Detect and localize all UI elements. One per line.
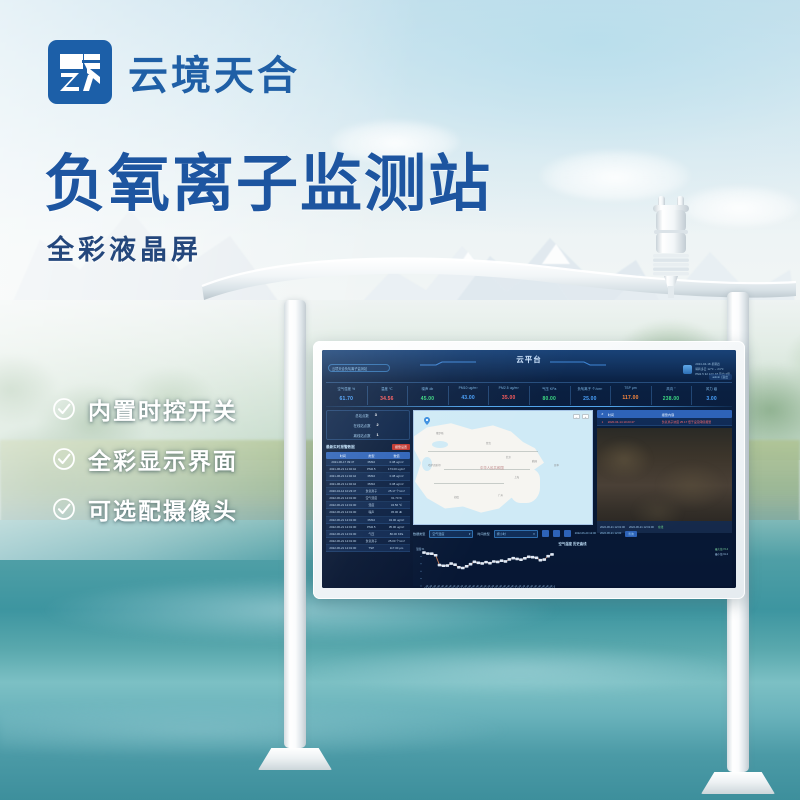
cell-type: 噪声 <box>360 510 384 514</box>
chart-point <box>488 562 492 565</box>
metrics-underline <box>326 406 732 407</box>
metric-value: 117.00 <box>610 395 651 401</box>
chart-point <box>438 564 442 567</box>
data-type-value: 空气湿度 <box>432 532 444 536</box>
chart-point <box>442 564 446 567</box>
column-header-type: 类型 <box>360 453 384 458</box>
chart-point <box>461 567 465 570</box>
page-title: 负氧离子监测站 <box>44 152 492 219</box>
column-header-value: 数值 <box>383 453 410 458</box>
metric-value: 238.00 <box>651 396 692 402</box>
weather-cloud-icon <box>683 365 692 374</box>
metric-value: 80.00 <box>529 396 570 402</box>
site-selector-value: 云境天合负氧离子监测站 <box>332 367 367 371</box>
cell-type: PM10 <box>360 474 384 478</box>
stat-label: 离线站点数 <box>354 433 371 438</box>
chart-plot: 12:0013:0014:0015:0016:0017:0018:0019:00… <box>415 547 555 588</box>
chart-point <box>535 556 539 559</box>
metric-card: TSP μm117.00 <box>610 383 651 408</box>
feature-list: 内置时控开关 全彩显示界面 可选配摄像头 <box>52 392 238 526</box>
column-header-content: 报警内容 <box>662 412 732 417</box>
chart-point <box>523 557 527 560</box>
chart-point <box>426 552 430 555</box>
cell-time: 2022-06-21 12:01:00 <box>326 496 360 500</box>
check-circle-icon <box>52 497 76 521</box>
cell-type: PM10 <box>360 482 384 486</box>
metric-label: 风向 ° <box>651 386 692 391</box>
chart-point <box>473 560 477 563</box>
station-map[interactable]: 中华人民共和国 蒙古 俄罗斯 哈萨克斯坦 日本 韩国 印度 北京 上海 广州 <box>413 410 593 525</box>
cell-type: PM2.5 <box>360 525 384 529</box>
chart-title: 空气湿度 历史曲线 <box>413 541 732 546</box>
check-circle-icon <box>52 397 76 421</box>
feature-item: 全彩显示界面 <box>52 442 238 476</box>
metric-label: TSP μm <box>610 386 651 390</box>
cell-type: 温度 <box>360 503 384 507</box>
stat-label: 在线站点数 <box>354 423 371 428</box>
brand-lockup: 云境天合 <box>48 40 300 104</box>
weather-condition: 晴转多云 12℃ ~ 24℃ <box>695 367 730 371</box>
chart-point <box>511 557 515 560</box>
chart-point <box>434 554 438 557</box>
time-type-label: 时间类型 <box>477 531 489 536</box>
cell-value: 0.38 ug/m³ <box>383 474 410 478</box>
date-to[interactable]: 2022-06-21 12:00 <box>600 532 621 535</box>
metric-label: PM2.5 ug/m³ <box>488 386 529 390</box>
table-row[interactable]: 2022-06-21 12:01:00空气湿度61.70 % <box>326 495 410 502</box>
chart-legend: 最大值 72.4 最小值 31.2 <box>715 547 728 556</box>
brand-name: 云境天合 <box>128 43 300 101</box>
cell-time: 2022-06-21 12:01:00 <box>326 518 360 522</box>
column-header-time: 时间 <box>326 453 360 458</box>
cell-type: 空气湿度 <box>360 496 384 500</box>
page-subtitle: 全彩液晶屏 <box>47 228 202 267</box>
metric-value: 45.00 <box>407 396 448 402</box>
metric-label: 噪声 db <box>407 386 448 391</box>
column-header-time: 时间 <box>608 412 662 417</box>
cell-time: 2022-06-21 12:01:00 <box>326 532 360 536</box>
cell-type: TSP <box>360 546 384 550</box>
cell-value: 43.00 ug/m³ <box>383 518 410 522</box>
metric-card: PM2.5 ug/m³35.00 <box>488 383 529 408</box>
map-region-label: 北京 <box>506 455 511 459</box>
chart-filter-bar: 数据类型 空气湿度 ▾ 时间类型 按小时 ▾ 2022-06-20 12:00 … <box>413 528 732 539</box>
map-region-label: 韩国 <box>532 459 537 463</box>
alarm-settings-button[interactable]: 报警设置 <box>392 444 410 450</box>
metric-card: 风向 °238.00 <box>651 383 692 408</box>
map-lake <box>432 441 448 448</box>
map-region-label: 俄罗斯 <box>436 431 444 435</box>
metric-card: 噪声 db45.00 <box>407 383 448 408</box>
table-row[interactable]: 2022-06-21 12:01:00噪声45.00 db <box>326 509 410 516</box>
export-icon[interactable] <box>542 530 549 537</box>
table-row[interactable]: 2022-06-21 12:01:00TSP117.00 μm <box>326 545 410 552</box>
metric-label: 气压 KPa <box>529 386 570 391</box>
legend-max: 最大值 72.4 <box>715 547 728 551</box>
chart-point <box>546 555 550 558</box>
stat-row: 总站点数3 <box>335 413 401 418</box>
chart-point <box>500 559 504 562</box>
table-row[interactable]: 2022-06-21 12:01:00PM2.535.00 ug/m³ <box>326 524 410 531</box>
map-region-label: 印度 <box>454 495 459 499</box>
cell-time: 2022-06-21 12:01:00 <box>326 503 360 507</box>
cell-time: 2022-06-21 12:01:00 <box>326 525 360 529</box>
alert-time: 2020-04-14 10:23:47 <box>608 420 662 424</box>
chart-point <box>508 558 512 561</box>
metric-label: PM10 ug/m³ <box>448 386 489 390</box>
data-type-select[interactable]: 空气湿度 ▾ <box>429 530 473 538</box>
feature-item: 内置时控开关 <box>52 392 238 426</box>
alarm-table-header: 时间 类型 数值 <box>326 452 410 459</box>
stat-value: 1 <box>376 433 382 437</box>
feature-item: 可选配摄像头 <box>52 492 238 526</box>
user-menu[interactable]: admin | 退出 <box>709 374 733 380</box>
chart-point <box>542 558 546 561</box>
cell-type: 气压 <box>360 532 384 536</box>
weather-date: 2024-04-18 星期四 <box>695 362 730 366</box>
chart-point <box>430 552 434 555</box>
chart-point <box>484 561 488 564</box>
metric-label: 温度 ℃ <box>367 386 408 391</box>
alert-content: 负氧离子浓度 25.17 低于设定阈值报警 <box>662 420 732 424</box>
alarm-table-body: 2021-06-17 09:47PM100.38 ug/m³2021-06-21… <box>326 459 410 552</box>
camera-feed[interactable]: 2022-06-21 12:01:00 2022-06-21 12:01:00 … <box>597 428 732 533</box>
cell-type: 负氧离子 <box>360 489 384 493</box>
chart-point <box>531 556 535 559</box>
cell-value: 35.00 ug/m³ <box>383 525 410 529</box>
metric-value: 25.00 <box>570 396 611 402</box>
map-region-label: 上海 <box>514 475 519 479</box>
chart-point <box>449 562 453 565</box>
map-country-label: 中华人民共和国 <box>480 465 504 470</box>
map-region-label: 日本 <box>554 463 559 467</box>
chart-point <box>550 553 554 556</box>
product-advertisement: 云境天合 负氧离子监测站 全彩液晶屏 内置时控开关 全彩显示界面 可选配摄像头 <box>0 0 800 800</box>
metric-value: 35.00 <box>488 395 529 401</box>
cell-time: 2022-06-21 12:01:00 <box>326 539 360 543</box>
date-from[interactable]: 2022-06-20 12:00 <box>575 532 596 535</box>
zr-monogram-logo <box>48 40 112 104</box>
cell-time: 2021-06-21 11:02:42 <box>326 482 360 486</box>
cell-value: 61.70 % <box>383 496 410 500</box>
metric-label: 空气湿度 % <box>326 386 367 391</box>
chart-point <box>445 564 449 567</box>
metric-card: 空气湿度 %61.70 <box>326 383 367 408</box>
chart-point <box>453 563 457 566</box>
alert-list-row[interactable]: 1 2020-04-14 10:23:47 负氧离子浓度 25.17 低于设定阈… <box>597 418 732 426</box>
cell-value: 0.38 ug/m³ <box>383 460 410 464</box>
support-post <box>284 300 306 748</box>
lcd-screen: 云平台 云境天合负氧离子监测站 2024-04-18 星期四 晴转多云 12℃ … <box>322 350 736 588</box>
cell-time: 2021-06-17 09:47 <box>326 460 360 464</box>
table-row[interactable]: 2021-06-21 11:02:42PM2.5173.00 ug/m³ <box>326 466 410 473</box>
chart-point <box>465 565 469 568</box>
cell-value: 25.17 个/cm³ <box>383 489 410 493</box>
map-zoom-controls[interactable]: − + <box>573 414 589 419</box>
cell-time: 2021-06-21 11:02:42 <box>326 467 360 471</box>
refresh-icon[interactable] <box>564 530 571 537</box>
cell-type: PM10 <box>360 460 384 464</box>
metric-value: 61.70 <box>326 396 367 402</box>
stat-row: 在线站点数2 <box>335 423 401 428</box>
table-row[interactable]: 2020-04-14 10:23:47负氧离子25.17 个/cm³ <box>326 488 410 495</box>
lcd-screen-frame: 云平台 云境天合负氧离子监测站 2024-04-18 星期四 晴转多云 12℃ … <box>313 341 745 599</box>
metrics-strip: 空气湿度 %61.70温度 ℃34.56噪声 db45.00PM10 ug/m³… <box>326 382 732 408</box>
chart-point <box>480 562 484 565</box>
map-zoom-in-button[interactable]: + <box>582 414 589 419</box>
station-stats-card: 总站点数3在线站点数2离线站点数1 <box>326 410 410 440</box>
cell-value: 25.00 个/cm³ <box>383 539 410 543</box>
metric-card: 负氧离子 个/cm³25.00 <box>570 383 611 408</box>
time-type-select[interactable]: 按小时 ▾ <box>494 530 538 538</box>
metric-card: 温度 ℃34.56 <box>367 383 408 408</box>
stat-row: 离线站点数1 <box>335 433 401 438</box>
left-column: 总站点数3在线站点数2离线站点数1 最新实时报警数据 报警设置 时间 类型 数值… <box>326 410 410 586</box>
table-row[interactable]: 2021-06-21 11:02:42PM100.38 ug/m³ <box>326 481 410 488</box>
chart-point <box>422 551 426 554</box>
cell-time: 2021-06-21 11:02:42 <box>326 474 360 478</box>
print-icon[interactable] <box>553 530 560 537</box>
chart-point <box>527 555 531 558</box>
metric-value: 3.00 <box>691 396 732 402</box>
site-selector[interactable]: 云境天合负氧离子监测站 <box>328 364 390 372</box>
cell-value: 45.00 db <box>383 510 410 514</box>
chevron-down-icon: ▾ <box>533 532 535 536</box>
chart-point <box>504 560 508 563</box>
table-row[interactable]: 2022-06-21 12:01:00PM1043.00 ug/m³ <box>326 517 410 524</box>
metric-value: 43.00 <box>448 395 489 401</box>
map-region-label: 哈萨克斯坦 <box>428 463 441 467</box>
column-header-index: # <box>597 412 608 416</box>
cell-type: PM10 <box>360 518 384 522</box>
chart-point <box>492 560 496 563</box>
metric-card: PM10 ug/m³43.00 <box>448 383 489 408</box>
chart-point <box>519 558 523 561</box>
metric-card: 气压 KPa80.00 <box>529 383 570 408</box>
map-zoom-out-button[interactable]: − <box>573 414 580 419</box>
alarm-table: 时间 类型 数值 2021-06-17 09:47PM100.38 ug/m³2… <box>326 452 410 552</box>
cell-time: 2020-04-14 10:23:47 <box>326 489 360 493</box>
stat-value: 3 <box>375 413 381 417</box>
stat-label: 总站点数 <box>355 413 369 418</box>
chart-point <box>515 558 519 561</box>
feature-label: 内置时控开关 <box>88 392 238 426</box>
table-row[interactable]: 2021-06-17 09:47PM100.38 ug/m³ <box>326 459 410 466</box>
metric-label: 负氧离子 个/cm³ <box>570 386 611 391</box>
cell-time: 2022-06-21 12:01:00 <box>326 510 360 514</box>
chevron-down-icon: ▾ <box>469 532 471 536</box>
search-button[interactable]: 查询 <box>625 531 637 537</box>
time-type-value: 按小时 <box>497 532 506 536</box>
history-chart: 空气湿度 历史曲线 最大值 72.4 最小值 31.2 湿度 % 12:0013… <box>413 540 732 586</box>
map-region-label: 蒙古 <box>486 441 491 445</box>
metric-label: 风力 级 <box>691 386 732 391</box>
camera-image <box>597 428 732 533</box>
cell-value: 80.00 KPa <box>383 532 410 536</box>
map-pin-icon[interactable] <box>424 417 430 425</box>
table-row[interactable]: 2022-06-21 12:01:00负氧离子25.00 个/cm³ <box>326 538 410 545</box>
feature-label: 全彩显示界面 <box>88 442 238 476</box>
cell-value: 34.56 ℃ <box>383 503 410 507</box>
cell-type: 负氧离子 <box>360 539 384 543</box>
stat-value: 2 <box>376 423 382 427</box>
chart-point <box>539 559 543 562</box>
dashboard: 云平台 云境天合负氧离子监测站 2024-04-18 星期四 晴转多云 12℃ … <box>322 350 736 588</box>
chart-point <box>457 566 461 569</box>
alert-index: 1 <box>597 420 608 424</box>
map-region-label: 广州 <box>498 493 503 497</box>
table-row[interactable]: 2022-06-21 12:01:00温度34.56 ℃ <box>326 502 410 509</box>
ultrasonic-weather-sensor <box>640 196 702 298</box>
cell-time: 2022-06-21 12:01:00 <box>326 546 360 550</box>
table-row[interactable]: 2022-06-21 12:01:00气压80.00 KPa <box>326 531 410 538</box>
cell-value: 173.00 ug/m³ <box>383 467 410 471</box>
chart-point <box>477 561 481 564</box>
data-type-label: 数据类型 <box>413 531 425 536</box>
cell-value: 117.00 μm <box>383 546 410 550</box>
chart-point <box>496 561 500 564</box>
check-circle-icon <box>52 447 76 471</box>
legend-min: 最小值 31.2 <box>715 552 728 556</box>
feature-label: 可选配摄像头 <box>88 492 238 526</box>
cell-value: 0.38 ug/m³ <box>383 482 410 486</box>
metric-value: 34.56 <box>367 396 408 402</box>
cell-type: PM2.5 <box>360 467 384 471</box>
metric-card: 风力 级3.00 <box>691 383 732 408</box>
table-row[interactable]: 2021-06-21 11:02:42PM100.38 ug/m³ <box>326 473 410 480</box>
alarm-panel-title: 最新实时报警数据 <box>326 445 355 450</box>
alert-list-header: # 时间 报警内容 <box>597 410 732 418</box>
chart-point <box>469 563 473 566</box>
alarm-panel-header: 最新实时报警数据 报警设置 <box>326 444 410 450</box>
